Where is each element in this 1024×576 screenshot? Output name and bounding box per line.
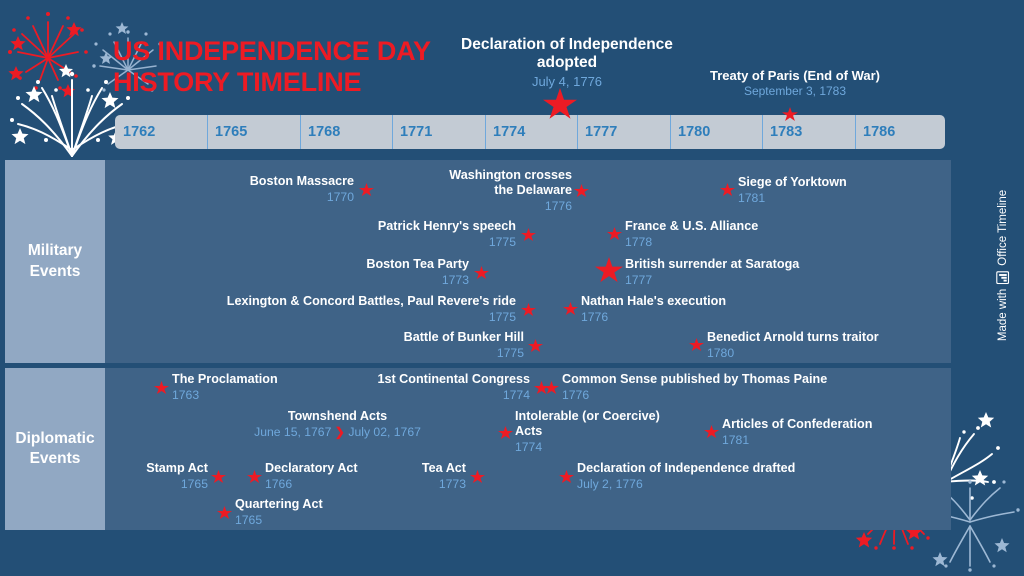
event-title: Siege of Yorktown <box>738 175 938 190</box>
event-siege-of-yorktown[interactable]: Siege of Yorktown 1781 <box>738 175 938 206</box>
office-timeline-logo-icon <box>997 270 1010 283</box>
axis-tick-1771: 1771 <box>392 115 432 149</box>
event-washington-crosses-delaware[interactable]: Washington crosses the Delaware 1776 <box>400 168 572 214</box>
event-france-us-alliance[interactable]: France & U.S. Alliance 1778 <box>625 219 825 250</box>
axis-tick-1762: 1762 <box>115 115 155 149</box>
event-date: 1775 <box>150 310 516 325</box>
event-benedict-arnold-turns-traitor[interactable]: Benedict Arnold turns traitor 1780 <box>707 330 937 361</box>
event-title: Washington crosses the Delaware <box>400 168 572 198</box>
event-title: Intolerable (or Coercive) Acts <box>515 409 715 439</box>
swimlane-label-military: Military Events <box>5 160 105 363</box>
event-date: 1778 <box>625 235 825 250</box>
event-date: 1777 <box>625 273 875 288</box>
event-title: Nathan Hale's execution <box>581 294 781 309</box>
watermark-prefix: Made with <box>997 288 1009 340</box>
event-nathan-hales-execution[interactable]: Nathan Hale's execution 1776 <box>581 294 781 325</box>
event-title: British surrender at Saratoga <box>625 257 875 272</box>
event-title: Benedict Arnold turns traitor <box>707 330 937 345</box>
event-date: 1773 <box>290 273 469 288</box>
milestone-date: September 3, 1783 <box>615 84 975 100</box>
event-date: 1765 <box>235 513 415 528</box>
timeline-axis[interactable]: 1762 1765 1768 1771 1774 1777 1780 1783 … <box>115 115 945 149</box>
event-title: Lexington & Concord Battles, Paul Revere… <box>150 294 516 309</box>
event-title: Quartering Act <box>235 497 415 512</box>
axis-tick-1777: 1777 <box>577 115 617 149</box>
axis-tick-1768: 1768 <box>300 115 340 149</box>
axis-tick-1780: 1780 <box>670 115 710 149</box>
event-date-end: July 02, 1767 <box>348 425 421 439</box>
event-quartering-act[interactable]: Quartering Act 1765 <box>235 497 415 528</box>
event-title: Articles of Confederation <box>722 417 942 432</box>
event-patrick-henrys-speech[interactable]: Patrick Henry's speech 1775 <box>330 219 516 250</box>
event-title: 1st Continental Congress <box>330 372 530 387</box>
event-stamp-act[interactable]: Stamp Act 1765 <box>60 461 208 492</box>
event-date: 1773 <box>345 477 466 492</box>
event-date: 1770 <box>165 190 354 205</box>
event-date: 1781 <box>738 191 938 206</box>
event-title: Boston Massacre <box>165 174 354 189</box>
event-battle-of-bunker-hill[interactable]: Battle of Bunker Hill 1775 <box>340 330 524 361</box>
event-common-sense-published[interactable]: Common Sense published by Thomas Paine 1… <box>562 372 862 403</box>
event-tea-act[interactable]: Tea Act 1773 <box>345 461 466 492</box>
event-title: Declaration of Independence drafted <box>577 461 857 476</box>
event-date: July 2, 1776 <box>577 477 857 492</box>
event-date: 1776 <box>562 388 862 403</box>
event-articles-of-confederation[interactable]: Articles of Confederation 1781 <box>722 417 942 448</box>
event-title: Stamp Act <box>60 461 208 476</box>
swimlane-label-diplomatic: Diplomatic Events <box>5 368 105 530</box>
event-title: Townshend Acts <box>200 409 475 424</box>
axis-tick-1765: 1765 <box>207 115 247 149</box>
event-lexington-concord-paul-revere[interactable]: Lexington & Concord Battles, Paul Revere… <box>150 294 516 325</box>
event-date: 1776 <box>581 310 781 325</box>
watermark-office-timeline[interactable]: Made with Office Timeline <box>986 160 1020 370</box>
event-date: 1780 <box>707 346 937 361</box>
event-date: 1765 <box>60 477 208 492</box>
axis-tick-1786: 1786 <box>855 115 895 149</box>
axis-tick-1783: 1783 <box>762 115 802 149</box>
date-range-chevron-icon: ❯ <box>335 425 345 439</box>
event-date: 1781 <box>722 433 942 448</box>
milestone-treaty-of-paris[interactable]: Treaty of Paris (End of War) September 3… <box>615 68 975 100</box>
watermark-brand: Office Timeline <box>997 189 1009 265</box>
event-boston-tea-party[interactable]: Boston Tea Party 1773 <box>290 257 469 288</box>
event-title: Patrick Henry's speech <box>330 219 516 234</box>
event-date: 1776 <box>400 199 572 214</box>
event-title: France & U.S. Alliance <box>625 219 825 234</box>
event-date: 1774 <box>330 388 530 403</box>
event-1st-continental-congress[interactable]: 1st Continental Congress 1774 <box>330 372 530 403</box>
event-date-range: June 15, 1767 ❯ July 02, 1767 <box>200 425 475 440</box>
event-townshend-acts[interactable]: Townshend Acts June 15, 1767 ❯ July 02, … <box>200 409 475 440</box>
event-title: Tea Act <box>345 461 466 476</box>
event-title: Common Sense published by Thomas Paine <box>562 372 862 387</box>
event-date-start: June 15, 1767 <box>254 425 331 439</box>
event-date: 1774 <box>515 440 715 455</box>
timeline-canvas: US INDEPENDENCE DAY HISTORY TIMELINE Dec… <box>0 0 1024 576</box>
event-date: 1775 <box>330 235 516 250</box>
event-date: 1775 <box>340 346 524 361</box>
event-declaration-drafted[interactable]: Declaration of Independence drafted July… <box>577 461 857 492</box>
event-british-surrender-saratoga[interactable]: British surrender at Saratoga 1777 <box>625 257 875 288</box>
event-title: Boston Tea Party <box>290 257 469 272</box>
milestone-title: Treaty of Paris (End of War) <box>615 68 975 83</box>
event-intolerable-coercive-acts[interactable]: Intolerable (or Coercive) Acts 1774 <box>515 409 715 455</box>
event-boston-massacre[interactable]: Boston Massacre 1770 <box>165 174 354 205</box>
axis-tick-1774: 1774 <box>485 115 525 149</box>
event-title: Battle of Bunker Hill <box>340 330 524 345</box>
